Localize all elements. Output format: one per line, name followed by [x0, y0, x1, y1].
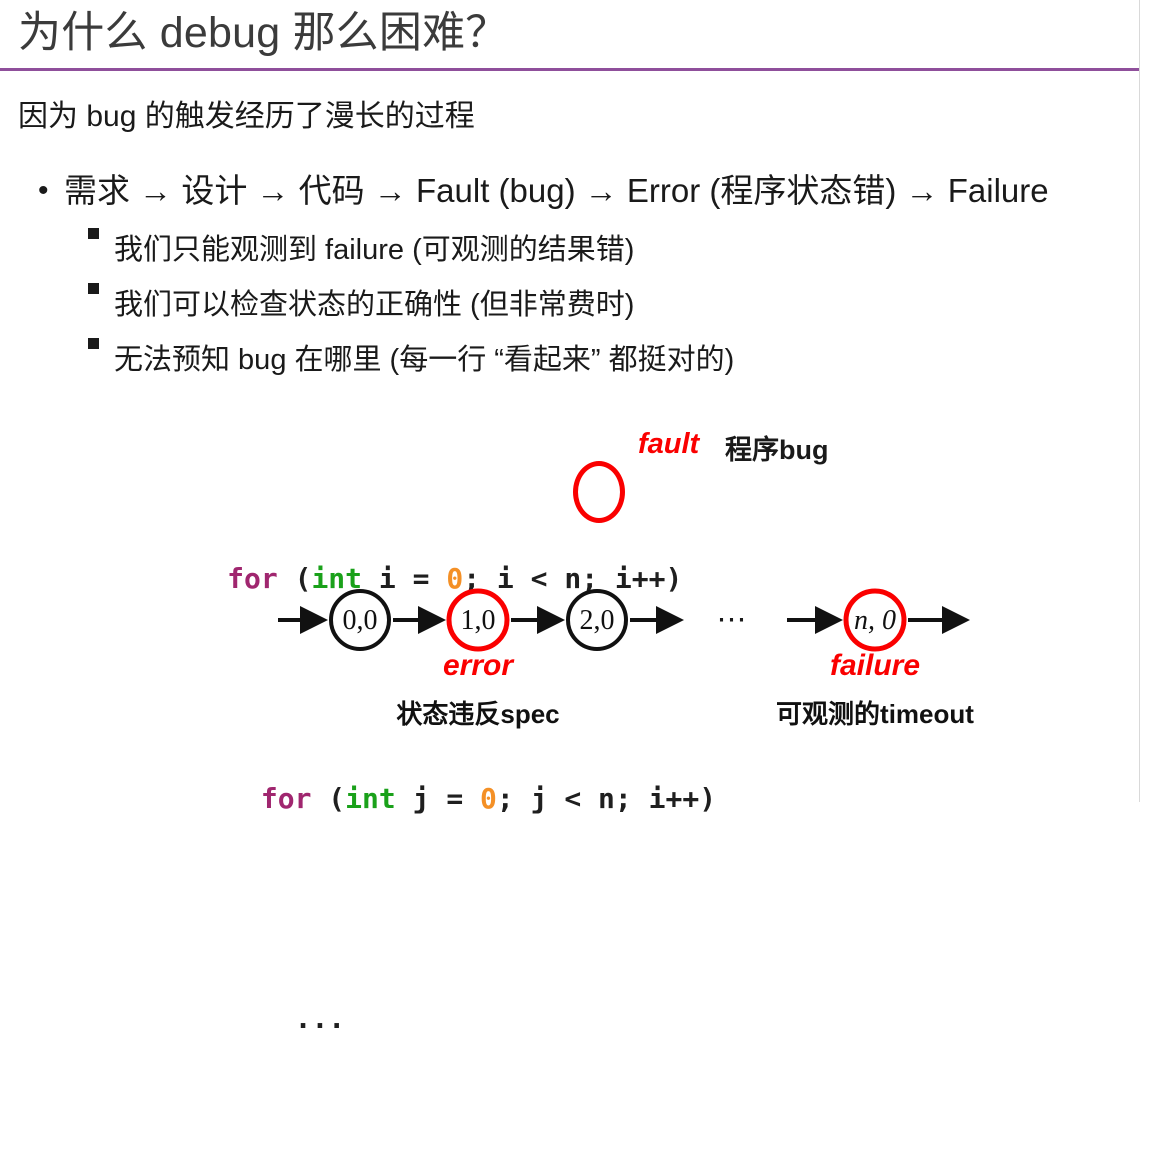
code-line-2: for (int j = 0; j < n; i++)	[126, 733, 716, 865]
failure-annotation-label: failure	[830, 649, 920, 683]
state-machine-diagram: 0,0 1,0 2,0 n, 0 ⋯ error 状态违反spec failur…	[260, 570, 1000, 680]
page-title: 为什么 debug 那么困难？	[18, 4, 508, 62]
state-node-2-0-label: 2,0	[580, 605, 615, 637]
bullet-square-icon	[88, 228, 114, 239]
bullet-level1: • 需求 → 设计 → 代码 → Fault (bug) → Error (程序…	[38, 168, 1049, 214]
bullet-level1-label: 需求 → 设计 → 代码 → Fault (bug) → Error (程序状态…	[64, 168, 1049, 214]
bullet-dot-icon: •	[38, 168, 64, 214]
list-item: 无法预知 bug 在哪里 (每一行 “看起来” 都挺对的)	[88, 338, 734, 383]
code-token-plain: ; j < n; i++)	[497, 782, 716, 815]
fault-annotation-note: 程序bug	[725, 428, 828, 467]
code-token-indent	[227, 782, 261, 815]
code-block: for (int i = 0; i < n; i++) for (int j =…	[126, 425, 716, 1173]
code-token-plain: (	[311, 782, 345, 815]
state-node-1-0-label: 1,0	[461, 605, 496, 637]
code-line-3: ...	[126, 953, 716, 1085]
title-underline-rule	[0, 68, 1139, 71]
slide: 为什么 debug 那么困难？ 因为 bug 的触发经历了漫长的过程 • 需求 …	[0, 0, 1154, 802]
code-token-number: 0	[480, 782, 497, 815]
fault-annotation-label: fault	[638, 428, 699, 461]
code-token-ellipsis: ...	[227, 1002, 345, 1035]
subtitle-text: 因为 bug 的触发经历了漫长的过程	[18, 96, 475, 138]
failure-annotation-caption: 可观测的timeout	[776, 694, 974, 731]
bullet-level2-label: 我们只能观测到 failure (可观测的结果错)	[114, 228, 634, 273]
code-token-keyword: for	[261, 782, 312, 815]
diagram-ellipsis: ⋯	[717, 603, 750, 638]
bullet-level2-label: 无法预知 bug 在哪里 (每一行 “看起来” 都挺对的)	[114, 338, 734, 383]
bullet-square-icon	[88, 283, 114, 294]
list-item: 我们可以检查状态的正确性 (但非常费时)	[88, 283, 734, 328]
error-annotation-label: error	[443, 649, 513, 683]
code-token-type: int	[345, 782, 396, 815]
list-item: 我们只能观测到 failure (可观测的结果错)	[88, 228, 734, 273]
bullet-square-icon	[88, 338, 114, 349]
code-token-plain: j =	[396, 782, 480, 815]
bullet-level2-label: 我们可以检查状态的正确性 (但非常费时)	[114, 283, 634, 328]
state-node-n-0-label: n, 0	[854, 605, 896, 637]
fault-highlight-ellipse	[573, 461, 625, 523]
state-node-0-0-label: 0,0	[343, 605, 378, 637]
slide-right-border	[1139, 0, 1140, 802]
error-annotation-caption: 状态违反spec	[396, 694, 559, 731]
bullet-level2-list: 我们只能观测到 failure (可观测的结果错) 我们可以检查状态的正确性 (…	[88, 228, 734, 393]
